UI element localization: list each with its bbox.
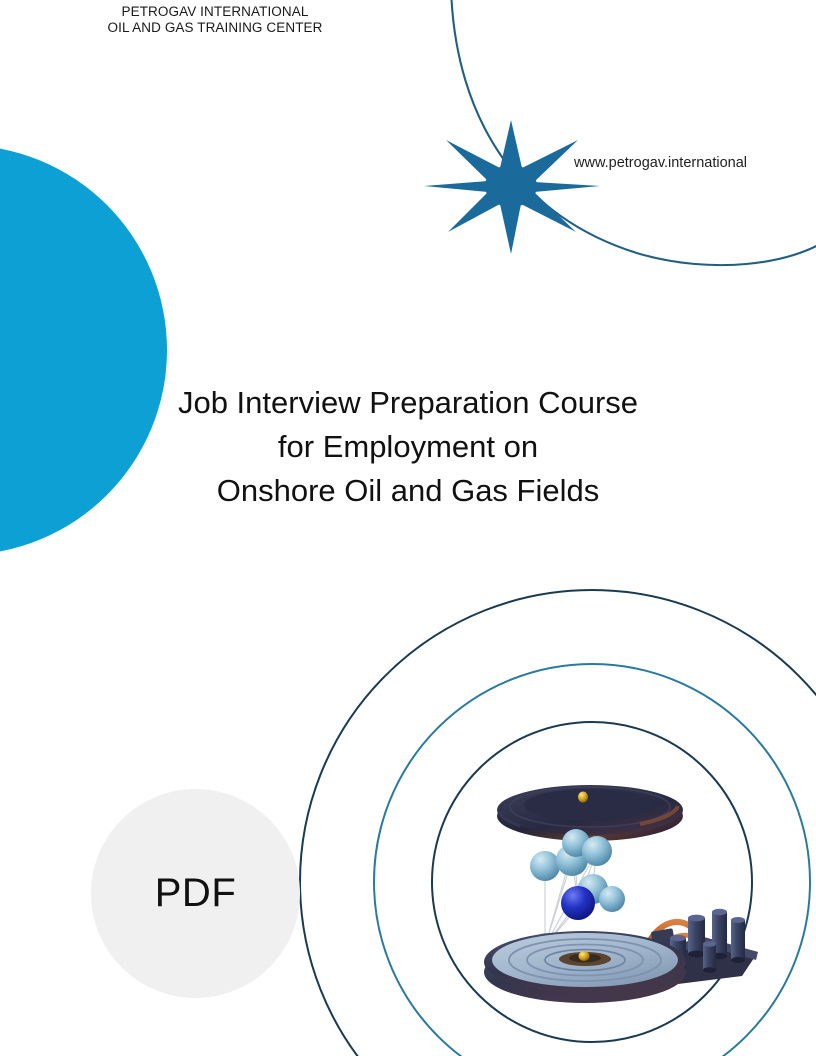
atomic-model-illustration: [484, 785, 758, 1003]
sphere-light: [562, 829, 590, 857]
top-sweep-arc: [451, 0, 816, 265]
cylinder: [712, 909, 727, 959]
top-disc: [497, 785, 683, 841]
sphere-dark: [561, 886, 595, 920]
title-line-1: Job Interview Preparation Course: [58, 381, 758, 425]
molecule-spheres: [530, 829, 625, 959]
title-line-3: Onshore Oil and Gas Fields: [58, 469, 758, 513]
concentric-circle-inner: [432, 722, 752, 1042]
page-title: Job Interview Preparation Course for Emp…: [58, 381, 758, 513]
star-burst-icon: [424, 120, 600, 254]
brand-header: PETROGAV INTERNATIONAL OIL AND GAS TRAIN…: [0, 4, 430, 37]
brand-line-2: OIL AND GAS TRAINING CENTER: [0, 20, 430, 36]
concentric-circle-outer: [300, 590, 816, 1056]
top-disc-stud: [578, 792, 588, 803]
pdf-badge-label: PDF: [91, 789, 300, 998]
cylinder: [670, 935, 686, 971]
sphere-light: [599, 886, 625, 912]
molecular-bonds: [545, 845, 610, 946]
cylinder: [688, 915, 705, 958]
bottom-disc-stud: [579, 951, 590, 961]
sphere-light: [582, 836, 612, 866]
cable: [654, 935, 702, 954]
brand-line-1: PETROGAV INTERNATIONAL: [0, 4, 430, 20]
sphere-light: [578, 874, 608, 904]
document-page: PETROGAV INTERNATIONAL OIL AND GAS TRAIN…: [0, 0, 816, 1056]
sphere-light: [530, 851, 560, 881]
cylinder: [731, 917, 745, 963]
concentric-circle-middle: [374, 664, 810, 1056]
cable: [648, 922, 694, 944]
bottom-disc: [484, 931, 686, 1003]
website-url[interactable]: www.petrogav.international: [574, 155, 747, 171]
title-line-2: for Employment on: [58, 425, 758, 469]
sphere-light: [532, 933, 558, 959]
sphere-light: [556, 844, 588, 876]
equipment-module: [648, 909, 758, 984]
cylinder: [703, 941, 716, 973]
